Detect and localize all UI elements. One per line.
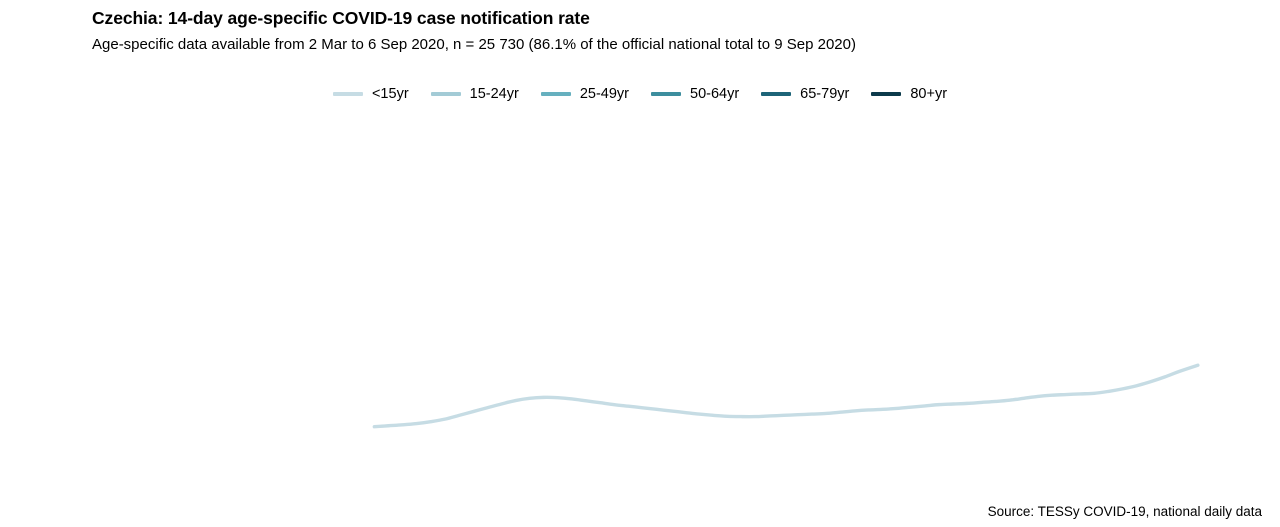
- plot-svg: [0, 0, 1280, 527]
- plot-area: [0, 0, 1280, 527]
- source-note: Source: TESSy COVID-19, national daily d…: [988, 504, 1262, 519]
- chart-figure: Czechia: 14-day age-specific COVID-19 ca…: [0, 0, 1280, 527]
- series-lines: [374, 365, 1198, 426]
- series-line-15yr: [374, 365, 1198, 426]
